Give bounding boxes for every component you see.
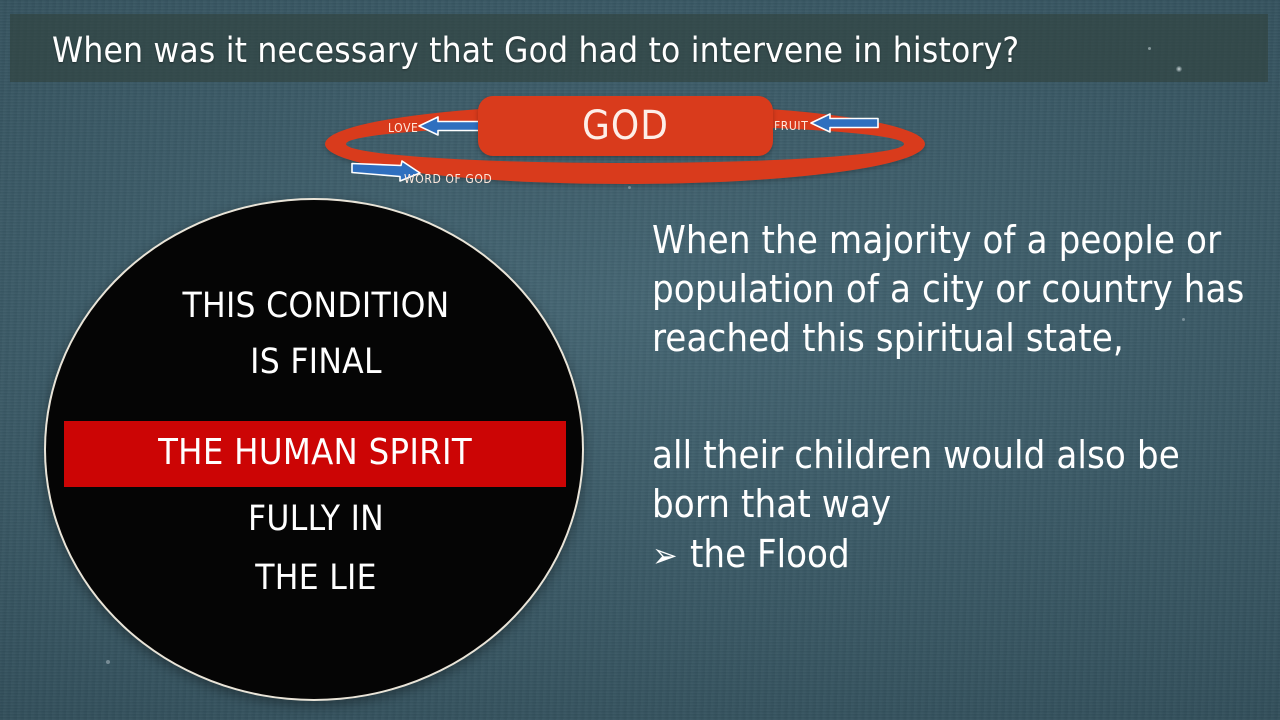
background-speck (106, 660, 110, 664)
god-cycle-diagram: LOVE FRUIT WORD OF GOD GOD (318, 88, 933, 203)
cycle-label-love: LOVE (388, 121, 418, 135)
human-spirit-label: THE HUMAN SPIRIT (64, 430, 566, 476)
god-label: GOD (478, 104, 773, 148)
god-center-box: GOD (478, 96, 773, 156)
title-banner: When was it necessary that God had to in… (10, 14, 1268, 82)
arrow-bullet-icon: ➢ (652, 532, 690, 581)
condition-circle: THIS CONDITION IS FINAL THE HUMAN SPIRIT… (44, 198, 584, 701)
body-paragraph2-line1: all their children would also be (652, 431, 1252, 480)
body-text-block: When the majority of a people or populat… (652, 216, 1252, 581)
body-paragraph1-line3: reached this spiritual state, (652, 314, 1252, 363)
paragraph-spacer (652, 363, 1252, 431)
bullet-label: the Flood (690, 530, 850, 579)
arrow-left-icon (808, 113, 880, 133)
slide-title: When was it necessary that God had to in… (52, 30, 1202, 72)
circle-text-line-5: THE LIE (46, 556, 586, 600)
body-paragraph1-line1: When the majority of a people or (652, 216, 1252, 265)
circle-text-line-2: IS FINAL (46, 340, 586, 384)
circle-text-line-4: FULLY IN (46, 497, 586, 541)
cycle-label-fruit: FRUIT (774, 119, 808, 133)
bullet-list-item: ➢ the Flood (652, 530, 1252, 581)
human-spirit-highlight-band: THE HUMAN SPIRIT (64, 421, 566, 487)
slide-canvas: When was it necessary that God had to in… (0, 0, 1280, 720)
circle-text-line-1: THIS CONDITION (46, 284, 586, 328)
body-paragraph2-line2: born that way (652, 480, 1252, 529)
body-paragraph1-line2: population of a city or country has (652, 265, 1252, 314)
cycle-label-word-of-god: WORD OF GOD (404, 172, 492, 186)
